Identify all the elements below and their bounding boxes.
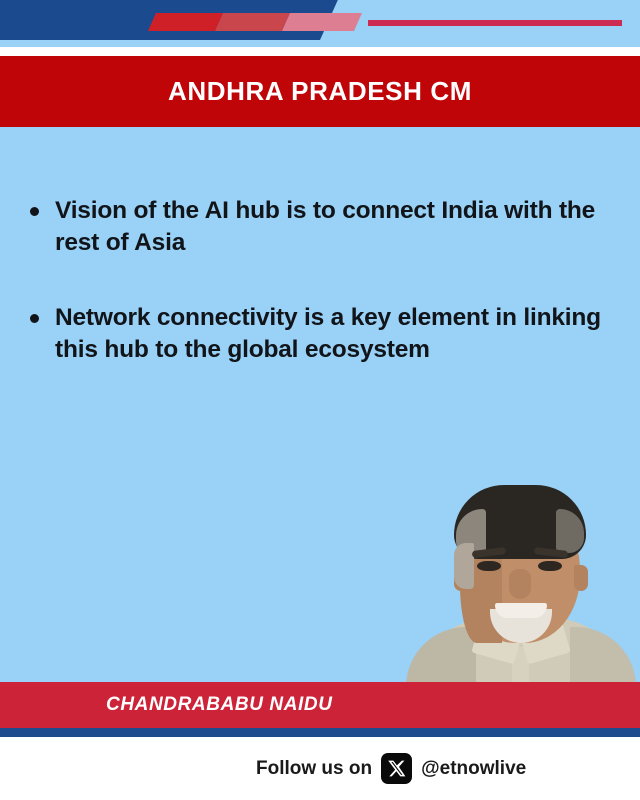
bullet-text: Vision of the AI hub is to connect India… (55, 195, 624, 260)
bullet-dot-icon (30, 207, 39, 216)
portrait-eye-right (538, 561, 562, 571)
portrait-mouth (495, 603, 547, 618)
title-banner: ANDHRA PRADESH CM (0, 56, 640, 127)
content-area: Vision of the AI hub is to connect India… (0, 127, 640, 727)
follow-label: Follow us on (256, 758, 372, 780)
top-decorative-strip (0, 0, 640, 47)
bullet-dot-icon (30, 314, 39, 323)
list-item: Network connectivity is a key element in… (24, 302, 624, 367)
news-card: ANDHRA PRADESH CM Vision of the AI hub i… (0, 0, 640, 800)
follow-us-group: Follow us on @etnowlive (256, 737, 526, 800)
portrait-eye-left (477, 561, 501, 571)
list-item: Vision of the AI hub is to connect India… (24, 195, 624, 260)
accent-bar-2 (215, 13, 290, 31)
page-title: ANDHRA PRADESH CM (168, 76, 472, 107)
portrait-nose (509, 569, 531, 599)
bullet-text: Network connectivity is a key element in… (55, 302, 624, 367)
accent-bar-1 (148, 13, 223, 31)
accent-bar-3 (282, 13, 362, 31)
x-twitter-icon[interactable] (381, 753, 412, 784)
footer-divider (0, 728, 640, 737)
bullet-list: Vision of the AI hub is to connect India… (24, 195, 624, 408)
social-handle[interactable]: @etnowlive (421, 758, 526, 780)
portrait-temple-left (454, 543, 474, 589)
name-banner: CHANDRABABU NAIDU (0, 682, 640, 728)
accent-thin-line (368, 20, 622, 26)
footer: Follow us on @etnowlive E T N O W (0, 737, 640, 800)
person-name: CHANDRABABU NAIDU (106, 694, 333, 716)
portrait-ear-right (574, 565, 588, 591)
